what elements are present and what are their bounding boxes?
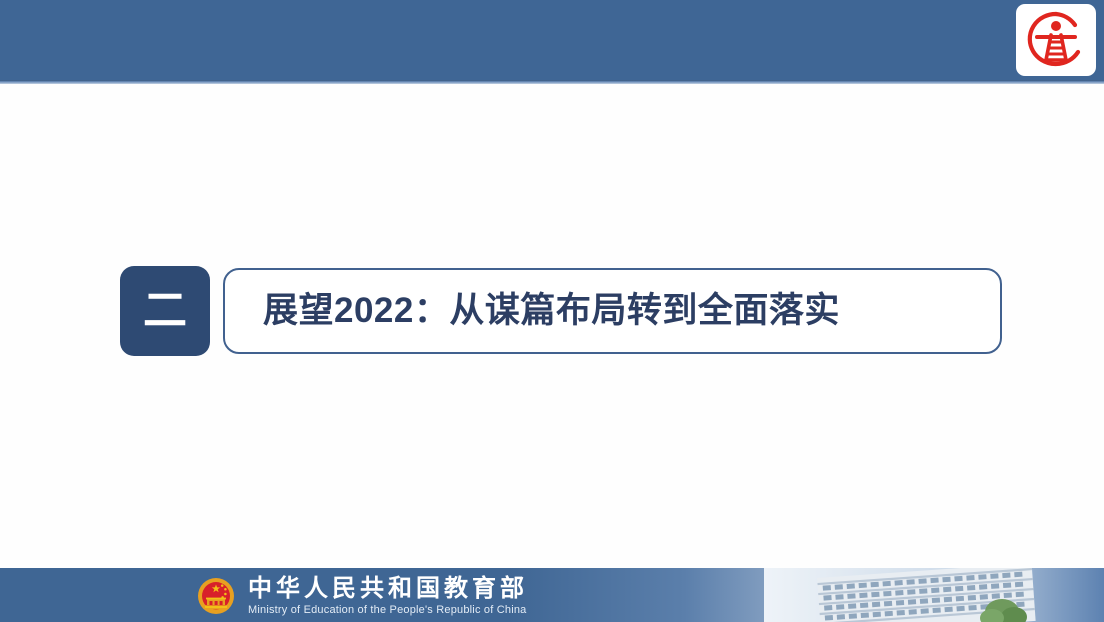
ministry-building-photo: [764, 568, 1104, 622]
footer-text-block: 中华人民共和国教育部 Ministry of Education of the …: [248, 575, 528, 617]
section-title-group: 二 展望2022：从谋篇布局转到全面落实: [120, 266, 1006, 358]
footer-organization-en: Ministry of Education of the People's Re…: [248, 603, 528, 617]
footer-bar: 中华人民共和国教育部 Ministry of Education of the …: [0, 568, 1104, 622]
section-number-badge: 二: [120, 266, 210, 356]
ministry-building-photo-icon: [764, 568, 1104, 622]
header-bar: [0, 0, 1104, 80]
section-title-box: 展望2022：从谋篇布局转到全面落实: [223, 268, 1002, 354]
organization-logo: [1016, 4, 1096, 76]
footer-organization-cn: 中华人民共和国教育部: [248, 575, 528, 601]
tower-emblem-logo-icon: [1022, 8, 1090, 72]
section-title-text: 展望2022：从谋篇布局转到全面落实: [263, 270, 980, 352]
footer-brand: 中华人民共和国教育部 Ministry of Education of the …: [196, 574, 528, 618]
prc-national-emblem-icon: [196, 576, 236, 616]
header-underline: [0, 80, 1104, 84]
slide-canvas: 二 展望2022：从谋篇布局转到全面落实: [0, 0, 1104, 622]
